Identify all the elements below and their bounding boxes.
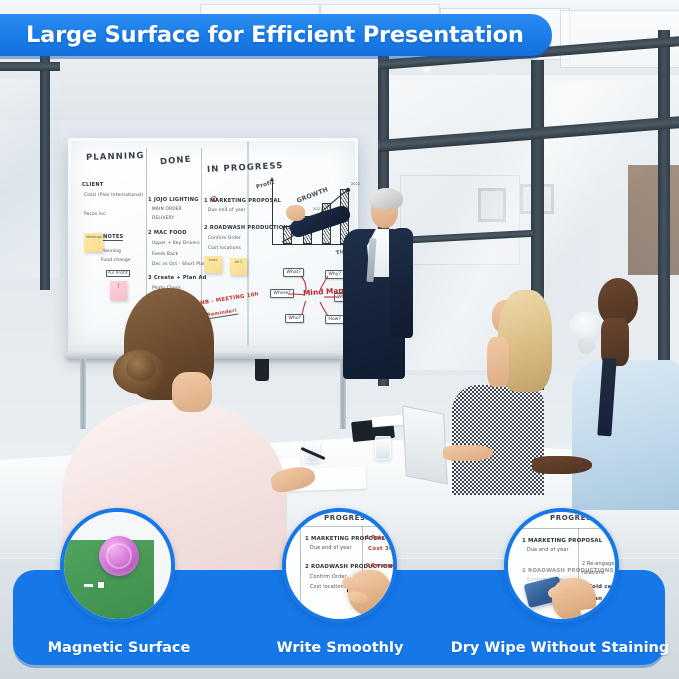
sticky-note: Sales [204,256,222,273]
presenter-hair [370,188,403,210]
foreground-woman-bun-braid [126,355,156,381]
window-mullion [40,50,50,290]
closeup-heading: PROGRESS [550,514,597,522]
closeup-line: 1 Retouching [366,536,397,541]
whiteboard-entry: NOTES [103,234,123,241]
man-blue-shirt-hand [532,456,592,474]
whiteboard-entry: 2 MAC FOOD [148,230,187,236]
feature-caption-write-smoothly: Write Smoothly [245,640,435,656]
board-rule-line [514,528,618,529]
whiteboard-entry: Upper + Key Drivers [152,241,200,246]
feature-image-dry-wipe: PROGRESS 1 MARKETING PROPOSAL Due end of… [504,508,619,623]
whiteboard-entry: 1 JOJO LIGHTING [148,197,199,203]
product-feature-image: PLANNING CLIENT Cozzi (Plan Internationa… [0,0,679,679]
whiteboard-entry: Cozzi (Plan International) [84,193,143,198]
closeup-heading: PROGRESS [324,514,371,522]
presenter-back [390,228,413,338]
whiteboard-clamp [255,359,269,381]
whiteboard-entry: Confirm Order [208,236,241,241]
board-marking [84,584,93,587]
whiteboard-entry: MAIN ORDER [152,207,182,212]
board-marking [97,581,105,589]
whiteboard-entry: CLIENT [82,182,104,188]
sticky-note: Meetings [84,233,103,252]
feature-image-write-smoothly: PROGRESS 1 MARKETING PROPOSAL Due end of… [282,508,397,623]
board-column-line [300,526,301,622]
whiteboard-entry: Planning [101,249,121,254]
paper-sheet [372,415,405,428]
whiteboard-entry: Pecos Inc. [84,212,107,217]
window-beam [0,62,60,71]
closeup-line: Cost locations [310,585,347,590]
closeup-line: 1 MARKETING PROPOSAL [522,538,602,544]
blonde-woman-blouse [452,385,544,495]
man-blue-shirt-body [572,360,679,510]
whiteboard-entry: Due end of year [208,208,246,213]
board-rule-line [292,526,396,527]
feature-caption-magnetic-surface: Magnetic Surface [24,640,214,656]
closeup-line: relations [582,571,605,576]
closeup-line: Cost 30% [368,546,397,552]
whiteboard-entry: 3 Create + Plan Ad [148,275,207,281]
window-mullion [658,30,670,390]
feature-caption-dry-wipe: Dry Wipe Without Staining [446,640,674,656]
glass-panel [0,78,60,278]
closeup-line: 2 Re-engage [582,562,615,567]
sticky-note: Ad 2 [230,258,247,275]
sticky-note: ! [110,281,127,300]
presenter-hand [286,205,305,221]
header-banner: Large Surface for Efficient Presentation [0,14,552,56]
whiteboard-leg [80,359,86,429]
whiteboard-entry: Dec vs Oct - Short Plans [152,262,209,267]
whiteboard-entry: 1 MARKETING PROPOSAL [204,198,281,204]
closeup-line: Due end of year [310,546,352,551]
blonde-woman-hand [443,445,493,461]
closeup-line: Due end of year [527,548,569,553]
foreground-woman-neck [172,372,212,412]
whiteboard-entry: Cost locations [208,246,241,251]
laptop [402,405,448,484]
closeup-line: 2 Re-engage [366,564,397,569]
blonde-woman-neck [487,337,509,387]
whiteboard-entry: DELIVERY [152,216,174,221]
magnet-highlight-ring [106,543,132,569]
whiteboard-entry: Feeds Back [152,252,178,257]
whiteboard-entry: A3 Profit [106,270,130,277]
whiteboard-heading-planning: PLANNING [86,151,145,163]
feature-image-magnetic-surface [60,508,175,623]
whiteboard-entry: Fund change [101,258,131,263]
downlight [420,66,432,73]
closeup-line: Confirm Order [310,575,347,580]
banner-title: Large Surface for Efficient Presentation [0,22,524,48]
water-glass [375,436,391,460]
